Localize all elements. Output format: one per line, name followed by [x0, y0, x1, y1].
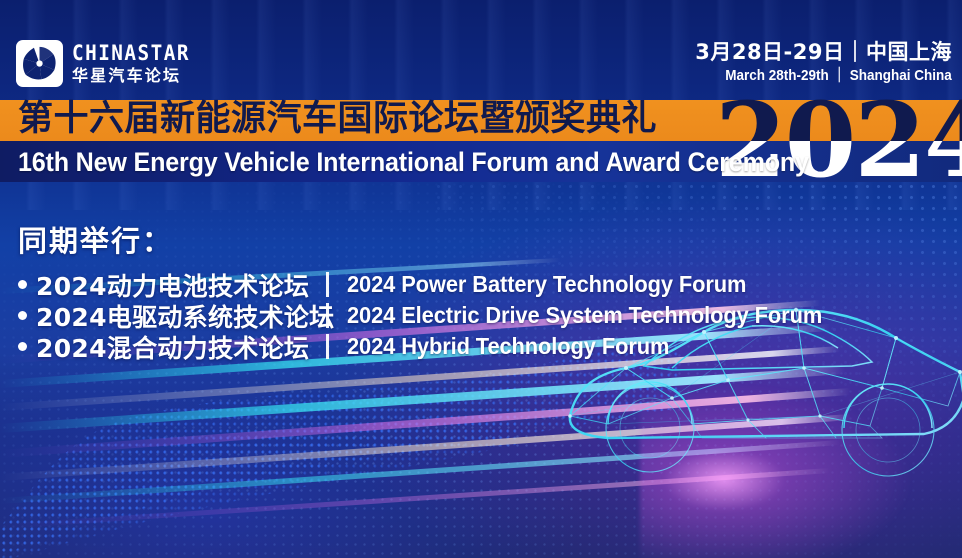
- bullet-icon: [18, 342, 27, 351]
- forum-name-en: 2024 Electric Drive System Technology Fo…: [347, 302, 822, 329]
- separator-icon: [326, 272, 329, 297]
- separator-icon: [326, 303, 329, 328]
- title-band-group: 2024 2024 第十六届新能源汽车国际论坛暨颁奖典礼 16th New En…: [0, 100, 962, 182]
- forum-name-cn: 2024混合动力技术论坛: [36, 329, 324, 365]
- list-item: 2024电驱动系统技术论坛 2024 Electric Drive System…: [18, 300, 847, 331]
- forum-name-en: 2024 Hybrid Technology Forum: [347, 333, 669, 360]
- event-date-location: 3月28日-29日｜中国上海 March 28th-29th ｜ Shangha…: [695, 40, 952, 86]
- list-item: 2024混合动力技术论坛 2024 Hybrid Technology Foru…: [18, 331, 847, 362]
- logo-name-en: CHINASTAR: [72, 43, 190, 64]
- logo-name-cn: 华星汽车论坛: [72, 68, 200, 84]
- star-emblem-icon: [16, 40, 63, 87]
- forums-heading: 同期举行：: [18, 218, 847, 260]
- bullet-icon: [18, 280, 27, 289]
- page-title-cn: 第十六届新能源汽车国际论坛暨颁奖典礼: [18, 99, 657, 140]
- bullet-icon: [18, 311, 27, 320]
- event-date-en: March 28th-29th ｜ Shanghai China: [721, 67, 952, 86]
- separator-icon: [326, 334, 329, 359]
- page-title-en: 16th New Energy Vehicle International Fo…: [18, 141, 809, 182]
- event-date-cn: 3月28日-29日｜中国上海: [695, 40, 952, 65]
- list-item: 2024动力电池技术论坛 2024 Power Battery Technolo…: [18, 269, 847, 300]
- event-banner: CHINASTAR 华星汽车论坛 3月28日-29日｜中国上海 March 28…: [0, 0, 962, 558]
- chinastar-logo[interactable]: CHINASTAR 华星汽车论坛: [16, 40, 200, 87]
- forum-name-en: 2024 Power Battery Technology Forum: [347, 271, 746, 298]
- concurrent-forums-section: 同期举行： 2024动力电池技术论坛 2024 Power Battery Te…: [18, 218, 847, 362]
